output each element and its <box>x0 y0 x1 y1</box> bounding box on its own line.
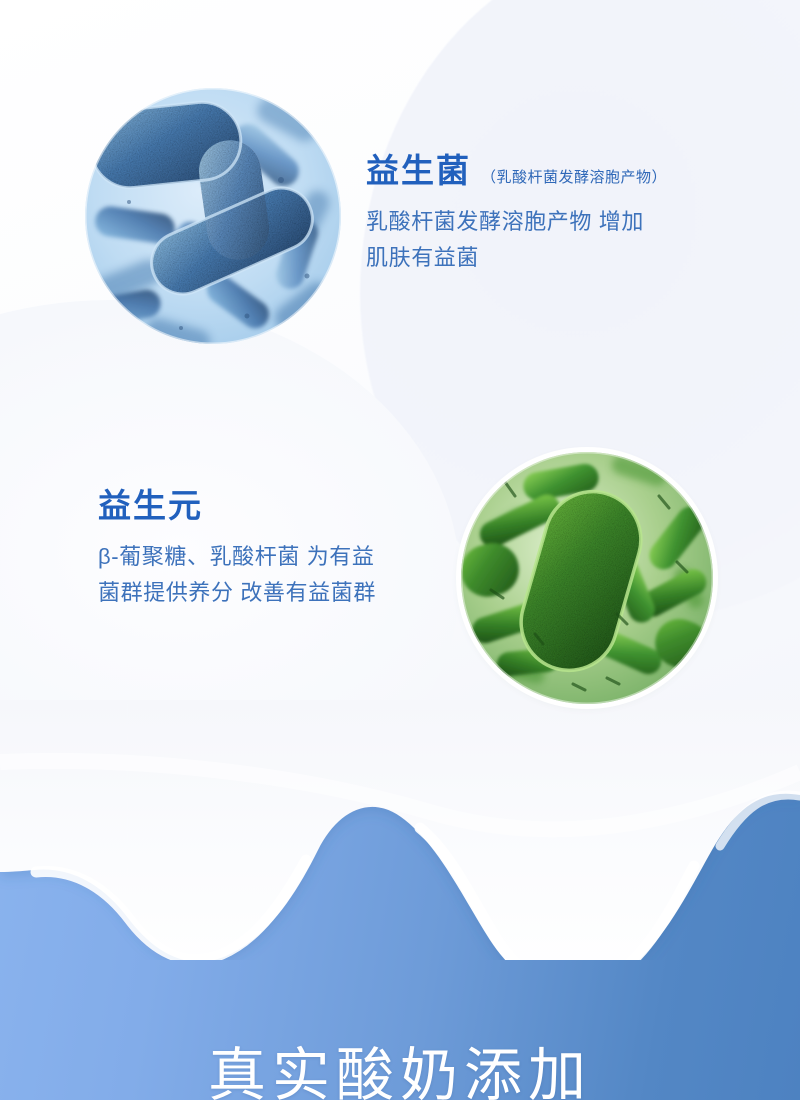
probiotic-text-block: 益生菌 （乳酸杆菌发酵溶胞产物） 乳酸杆菌发酵溶胞产物 增加 肌肤有益菌 <box>366 152 786 275</box>
prebiotic-body: β-葡聚糖、乳酸杆菌 为有益 菌群提供养分 改善有益菌群 <box>98 539 498 610</box>
prebiotic-heading-row: 益生元 <box>98 487 498 525</box>
prebiotic-body-line-2: 菌群提供养分 改善有益菌群 <box>98 575 498 611</box>
probiotic-bacteria-photo <box>85 88 341 344</box>
prebiotic-text-block: 益生元 β-葡聚糖、乳酸杆菌 为有益 菌群提供养分 改善有益菌群 <box>98 487 498 610</box>
prebiotic-heading: 益生元 <box>98 487 203 525</box>
probiotic-heading-note: （乳酸杆菌发酵溶胞产物） <box>481 166 667 187</box>
probiotic-body-line-1: 乳酸杆菌发酵溶胞产物 增加 <box>366 204 786 240</box>
probiotic-heading-row: 益生菌 （乳酸杆菌发酵溶胞产物） <box>366 152 786 190</box>
probiotic-body-line-2: 肌肤有益菌 <box>366 240 786 276</box>
probiotic-body: 乳酸杆菌发酵溶胞产物 增加 肌肤有益菌 <box>366 204 786 275</box>
probiotic-heading: 益生菌 <box>366 152 471 190</box>
prebiotic-bacteria-photo <box>461 452 713 704</box>
footer-headline: 真实酸奶添加 <box>0 1046 800 1100</box>
product-detail-page: 益生菌 （乳酸杆菌发酵溶胞产物） 乳酸杆菌发酵溶胞产物 增加 肌肤有益菌 益生元… <box>0 0 800 1100</box>
prebiotic-body-line-1: β-葡聚糖、乳酸杆菌 为有益 <box>98 539 498 575</box>
